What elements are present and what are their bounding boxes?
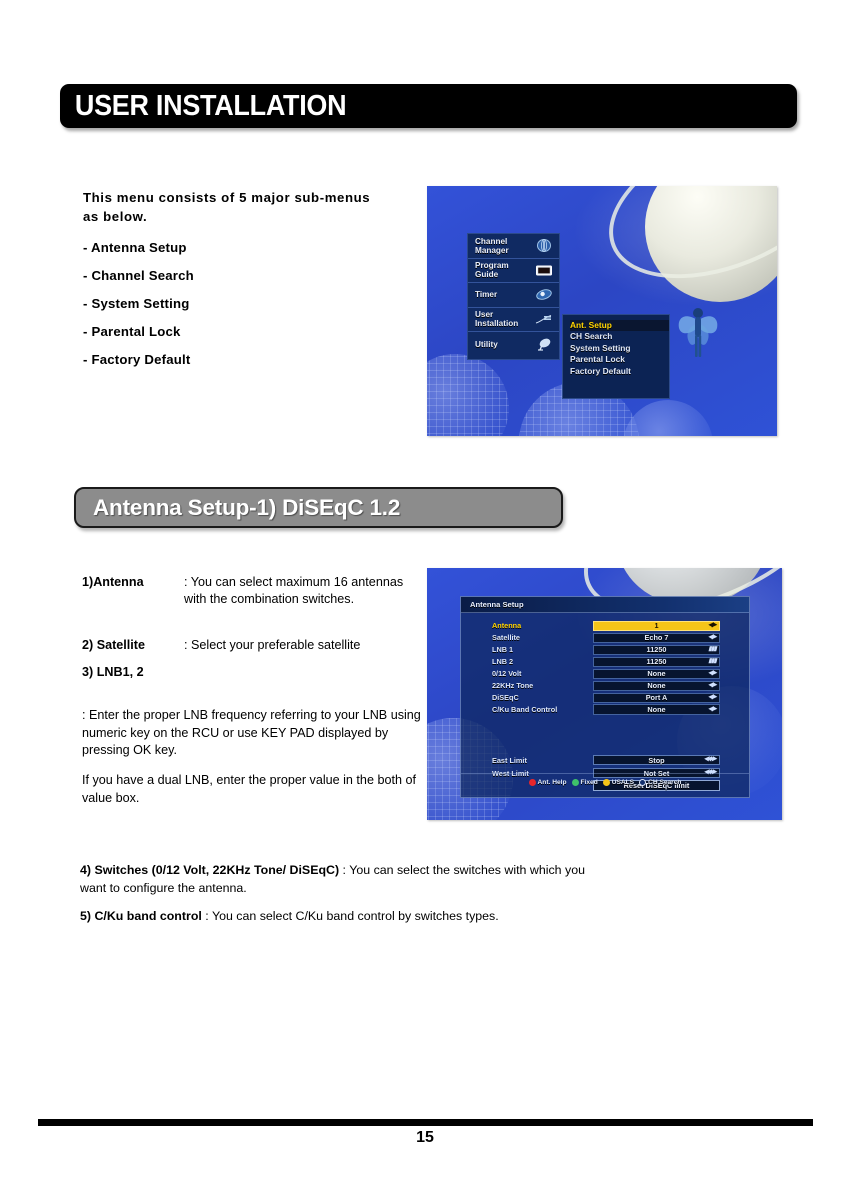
setting-row-0-12-volt[interactable]: 0/12 Volt None ◀▶ bbox=[492, 668, 720, 680]
intro-bullet-antenna-setup: - Antenna Setup bbox=[83, 239, 418, 256]
paragraph-dual-lnb: If you have a dual LNB, enter the proper… bbox=[82, 772, 427, 807]
definition-row-satellite: 2) Satellite : Select your preferable sa… bbox=[82, 637, 422, 654]
intro-bullet-parental-lock: - Parental Lock bbox=[83, 323, 418, 340]
definition-desc: : Select your preferable satellite bbox=[184, 637, 422, 654]
legend-fixed[interactable]: Fixed bbox=[572, 779, 598, 786]
note-switches: 4) Switches (0/12 Volt, 22KHz Tone/ DiSE… bbox=[80, 861, 770, 897]
setting-value: Stop bbox=[648, 756, 664, 765]
legend-usals[interactable]: USALS bbox=[603, 779, 634, 786]
user-installation-submenu[interactable]: Ant. Setup CH Search System Setting Pare… bbox=[562, 314, 670, 399]
setting-label: LNB 1 bbox=[492, 645, 593, 654]
submenu-item-ch-search[interactable]: CH Search bbox=[570, 331, 662, 342]
setting-label: C/Ku Band Control bbox=[492, 705, 593, 714]
setting-label: 0/12 Volt bbox=[492, 669, 593, 678]
legend-label: Fixed bbox=[581, 779, 598, 786]
main-menu-panel[interactable]: Channel Manager Program Guide Timer User… bbox=[467, 233, 560, 360]
setting-value-field[interactable]: 11250 ▮▮▮ bbox=[593, 657, 720, 667]
definition-desc bbox=[184, 664, 422, 681]
setting-label: Antenna bbox=[492, 621, 593, 630]
screenshot-main-menu: Channel Manager Program Guide Timer User… bbox=[427, 186, 777, 436]
definition-list: 1)Antenna : You can select maximum 16 an… bbox=[82, 574, 422, 611]
submenu-item-system-setting[interactable]: System Setting bbox=[570, 343, 662, 354]
keypad-icon[interactable]: ▮▮▮ bbox=[708, 658, 716, 665]
left-right-arrows-icon[interactable]: ◀▶ bbox=[708, 682, 716, 689]
menu-item-program-guide[interactable]: Program Guide bbox=[468, 259, 559, 284]
timer-icon bbox=[535, 288, 553, 301]
definition-term: 2) Satellite bbox=[82, 637, 184, 654]
setting-row-22khz-tone[interactable]: 22KHz Tone None ◀▶ bbox=[492, 680, 720, 692]
intro-bullet-system-setting: - System Setting bbox=[83, 295, 418, 312]
intro-lead-line1: This menu consists of 5 major sub-menus bbox=[83, 188, 418, 207]
menu-item-user-installation[interactable]: User Installation bbox=[468, 308, 559, 333]
left-right-arrows-icon[interactable]: ◀▶ bbox=[708, 634, 716, 641]
menu-item-channel-manager[interactable]: Channel Manager bbox=[468, 234, 559, 259]
note-switches-cont: want to configure the antenna. bbox=[80, 879, 770, 897]
setting-value: Port A bbox=[646, 693, 668, 702]
program-guide-icon bbox=[535, 264, 553, 277]
setting-value-field[interactable]: Echo 7 ◀▶ bbox=[593, 633, 720, 643]
screenshot-antenna-setup: Antenna Setup Antenna 1 ◀▶ Satellite Ech… bbox=[427, 568, 782, 820]
paragraph-lnb-detail: : Enter the proper LNB frequency referri… bbox=[82, 707, 427, 760]
note-switches-bold: 4) Switches (0/12 Volt, 22KHz Tone/ DiSE… bbox=[80, 863, 339, 877]
legend-ch-search[interactable]: CH Search bbox=[639, 779, 681, 786]
antenna-setup-title-bar: Antenna Setup bbox=[461, 597, 749, 613]
definition-row-lnb-wrap: 3) LNB1, 2 bbox=[82, 664, 422, 684]
fairy-graphic bbox=[673, 304, 721, 371]
setting-label: 22KHz Tone bbox=[492, 681, 593, 690]
setting-row-lnb1[interactable]: LNB 1 11250 ▮▮▮ bbox=[492, 644, 720, 656]
intro-lead: This menu consists of 5 major sub-menus … bbox=[83, 188, 418, 226]
page-number: 15 bbox=[0, 1129, 850, 1147]
intro-bullet-channel-search: - Channel Search bbox=[83, 267, 418, 284]
definition-row-antenna: 1)Antenna : You can select maximum 16 an… bbox=[82, 574, 422, 608]
setting-value: 1 bbox=[654, 621, 658, 630]
setting-value-field[interactable]: 11250 ▮▮▮ bbox=[593, 645, 720, 655]
keypad-icon[interactable]: ▮▮▮ bbox=[708, 646, 716, 653]
setting-value-field[interactable]: 1 ◀▶ bbox=[593, 621, 720, 631]
note-switches-rest: : You can select the switches with which… bbox=[339, 863, 585, 877]
section-heading-bar: Antenna Setup-1) DiSEqC 1.2 bbox=[74, 487, 563, 528]
setting-value-field[interactable]: None ◀▶ bbox=[593, 681, 720, 691]
note-cku-rest: : You can select C/Ku band control by sw… bbox=[202, 909, 499, 923]
antenna-setup-rows: Antenna 1 ◀▶ Satellite Echo 7 ◀▶ LNB 1 1… bbox=[492, 620, 720, 716]
blue-dot-icon bbox=[639, 779, 646, 786]
legend-label: CH Search bbox=[648, 779, 681, 786]
definition-term: 1)Antenna bbox=[82, 574, 184, 608]
menu-item-timer[interactable]: Timer bbox=[468, 283, 559, 308]
menu-item-label: User Installation bbox=[475, 310, 518, 328]
antenna-setup-title: Antenna Setup bbox=[470, 600, 524, 609]
setting-label: East Limit bbox=[492, 756, 593, 765]
menu-item-label: Utility bbox=[475, 340, 498, 349]
setting-value-field[interactable]: None ◀▶ bbox=[593, 704, 720, 714]
section-heading: Antenna Setup-1) DiSEqC 1.2 bbox=[76, 495, 400, 521]
submenu-item-parental-lock[interactable]: Parental Lock bbox=[570, 354, 662, 365]
setting-row-c-ku-band-control[interactable]: C/Ku Band Control None ◀▶ bbox=[492, 704, 720, 716]
menu-item-label: Timer bbox=[475, 290, 497, 299]
menu-item-label: Channel Manager bbox=[475, 237, 509, 255]
menu-item-utility[interactable]: Utility bbox=[468, 332, 559, 357]
legend-label: USALS bbox=[612, 779, 634, 786]
note-c-ku-band-control: 5) C/Ku band control : You can select C/… bbox=[80, 907, 770, 925]
utility-dish-icon bbox=[535, 338, 553, 351]
definition-row-lnb: 3) LNB1, 2 bbox=[82, 664, 422, 681]
setting-row-antenna[interactable]: Antenna 1 ◀▶ bbox=[492, 620, 720, 632]
channel-manager-icon bbox=[535, 239, 553, 252]
antenna-setup-legend: Ant. Help Fixed USALS CH Search bbox=[461, 773, 749, 789]
left-right-arrows-icon[interactable]: ◀▶ bbox=[708, 622, 716, 629]
setting-value: Echo 7 bbox=[645, 633, 669, 642]
definition-term: 3) LNB1, 2 bbox=[82, 664, 184, 681]
user-installation-icon bbox=[535, 313, 553, 326]
setting-value-field[interactable]: Stop ◀◆▶ bbox=[593, 755, 720, 766]
antenna-setup-panel[interactable]: Antenna Setup Antenna 1 ◀▶ Satellite Ech… bbox=[460, 596, 750, 798]
page-title-banner: USER INSTALLATION bbox=[60, 84, 797, 128]
setting-value: 11250 bbox=[647, 657, 667, 666]
setting-row-lnb2[interactable]: LNB 2 11250 ▮▮▮ bbox=[492, 656, 720, 668]
page-title: USER INSTALLATION bbox=[60, 90, 346, 123]
submenu-item-factory-default[interactable]: Factory Default bbox=[570, 366, 662, 377]
intro-block: This menu consists of 5 major sub-menus … bbox=[83, 188, 418, 379]
setting-label: Satellite bbox=[492, 633, 593, 642]
setting-value: None bbox=[647, 705, 665, 714]
legend-label: Ant. Help bbox=[538, 779, 567, 786]
submenu-item-ant-setup[interactable]: Ant. Setup bbox=[570, 320, 669, 331]
intro-bullet-factory-default: - Factory Default bbox=[83, 351, 418, 368]
setting-row-diseqc[interactable]: DiSEqC Port A ◀▶ bbox=[492, 692, 720, 704]
setting-label: LNB 2 bbox=[492, 657, 593, 666]
setting-value: None bbox=[647, 681, 665, 690]
setting-value: 11250 bbox=[647, 645, 667, 654]
intro-lead-line2: as below. bbox=[83, 207, 418, 226]
footer-divider bbox=[38, 1119, 813, 1126]
left-right-arrows-icon[interactable]: ◀▶ bbox=[708, 706, 716, 713]
setting-value-field[interactable]: Port A ◀▶ bbox=[593, 693, 720, 703]
setting-label: DiSEqC bbox=[492, 693, 593, 702]
left-right-arrows-icon[interactable]: ◀◆▶ bbox=[704, 757, 716, 764]
left-right-arrows-icon[interactable]: ◀▶ bbox=[708, 670, 716, 677]
red-dot-icon bbox=[529, 779, 536, 786]
menu-item-label: Program Guide bbox=[475, 261, 509, 279]
setting-value-field[interactable]: None ◀▶ bbox=[593, 669, 720, 679]
yellow-dot-icon bbox=[603, 779, 610, 786]
green-dot-icon bbox=[572, 779, 579, 786]
definition-desc: : You can select maximum 16 antennas wit… bbox=[184, 574, 422, 608]
setting-row-satellite[interactable]: Satellite Echo 7 ◀▶ bbox=[492, 632, 720, 644]
legend-ant-help[interactable]: Ant. Help bbox=[529, 779, 567, 786]
definition-row-satellite-wrap: 2) Satellite : Select your preferable sa… bbox=[82, 637, 422, 657]
setting-row-east-limit[interactable]: East Limit Stop ◀◆▶ bbox=[492, 754, 720, 766]
left-right-arrows-icon[interactable]: ◀▶ bbox=[708, 694, 716, 701]
setting-value: None bbox=[647, 669, 665, 678]
note-cku-bold: 5) C/Ku band control bbox=[80, 909, 202, 923]
